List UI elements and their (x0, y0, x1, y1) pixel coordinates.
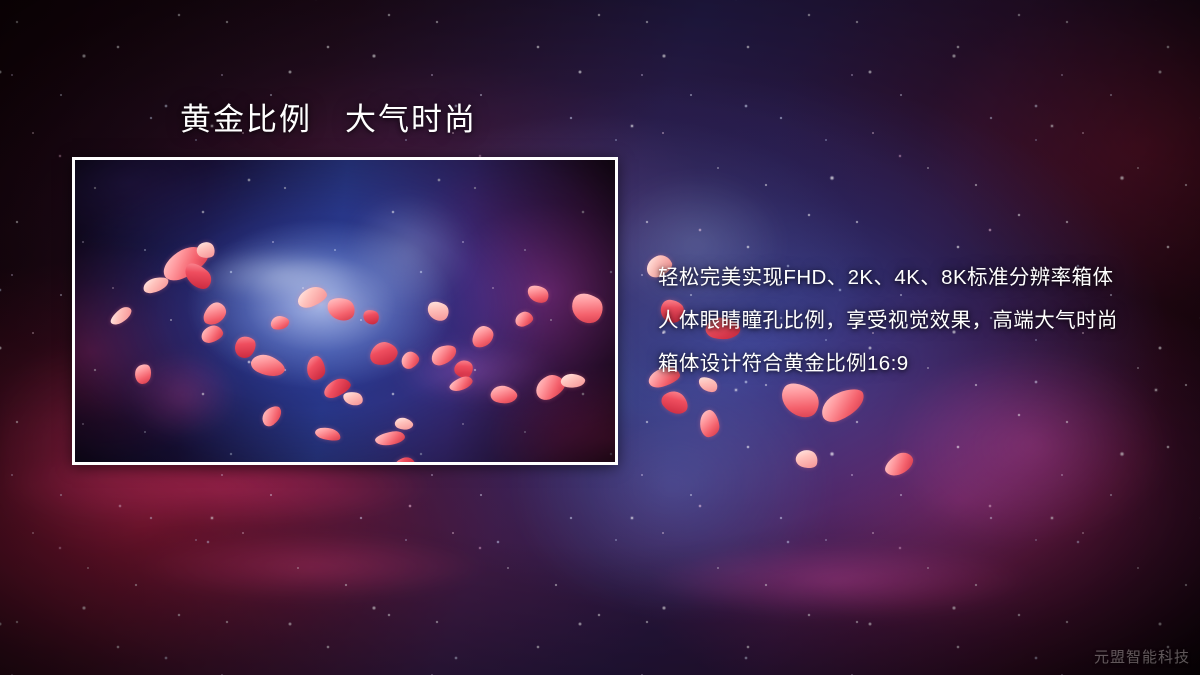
petal-shape (817, 384, 869, 425)
petal-shape (658, 386, 691, 420)
petal-shape (698, 409, 721, 438)
framed-image-panel[interactable] (72, 157, 618, 465)
body-line-3: 箱体设计符合黄金比例16:9 (658, 342, 1178, 385)
petal-shape (881, 448, 917, 480)
panel-vignette (75, 160, 615, 462)
body-line-1: 轻松完美实现FHD、2K、4K、8K标准分辨率箱体 (658, 256, 1178, 299)
panel-image (75, 160, 615, 462)
presentation-slide: 黄金比例 大气时尚 轻松完美实现FHD、2K、4K、8K标准分辨率箱体 人体眼睛… (0, 0, 1200, 675)
body-line-2: 人体眼睛瞳孔比例，享受视觉效果，高端大气时尚 (658, 299, 1178, 342)
watermark-label: 元盟智能科技 (1094, 646, 1190, 667)
body-text-block: 轻松完美实现FHD、2K、4K、8K标准分辨率箱体 人体眼睛瞳孔比例，享受视觉效… (658, 256, 1178, 385)
page-title: 黄金比例 大气时尚 (180, 100, 477, 140)
petal-shape (794, 447, 820, 471)
